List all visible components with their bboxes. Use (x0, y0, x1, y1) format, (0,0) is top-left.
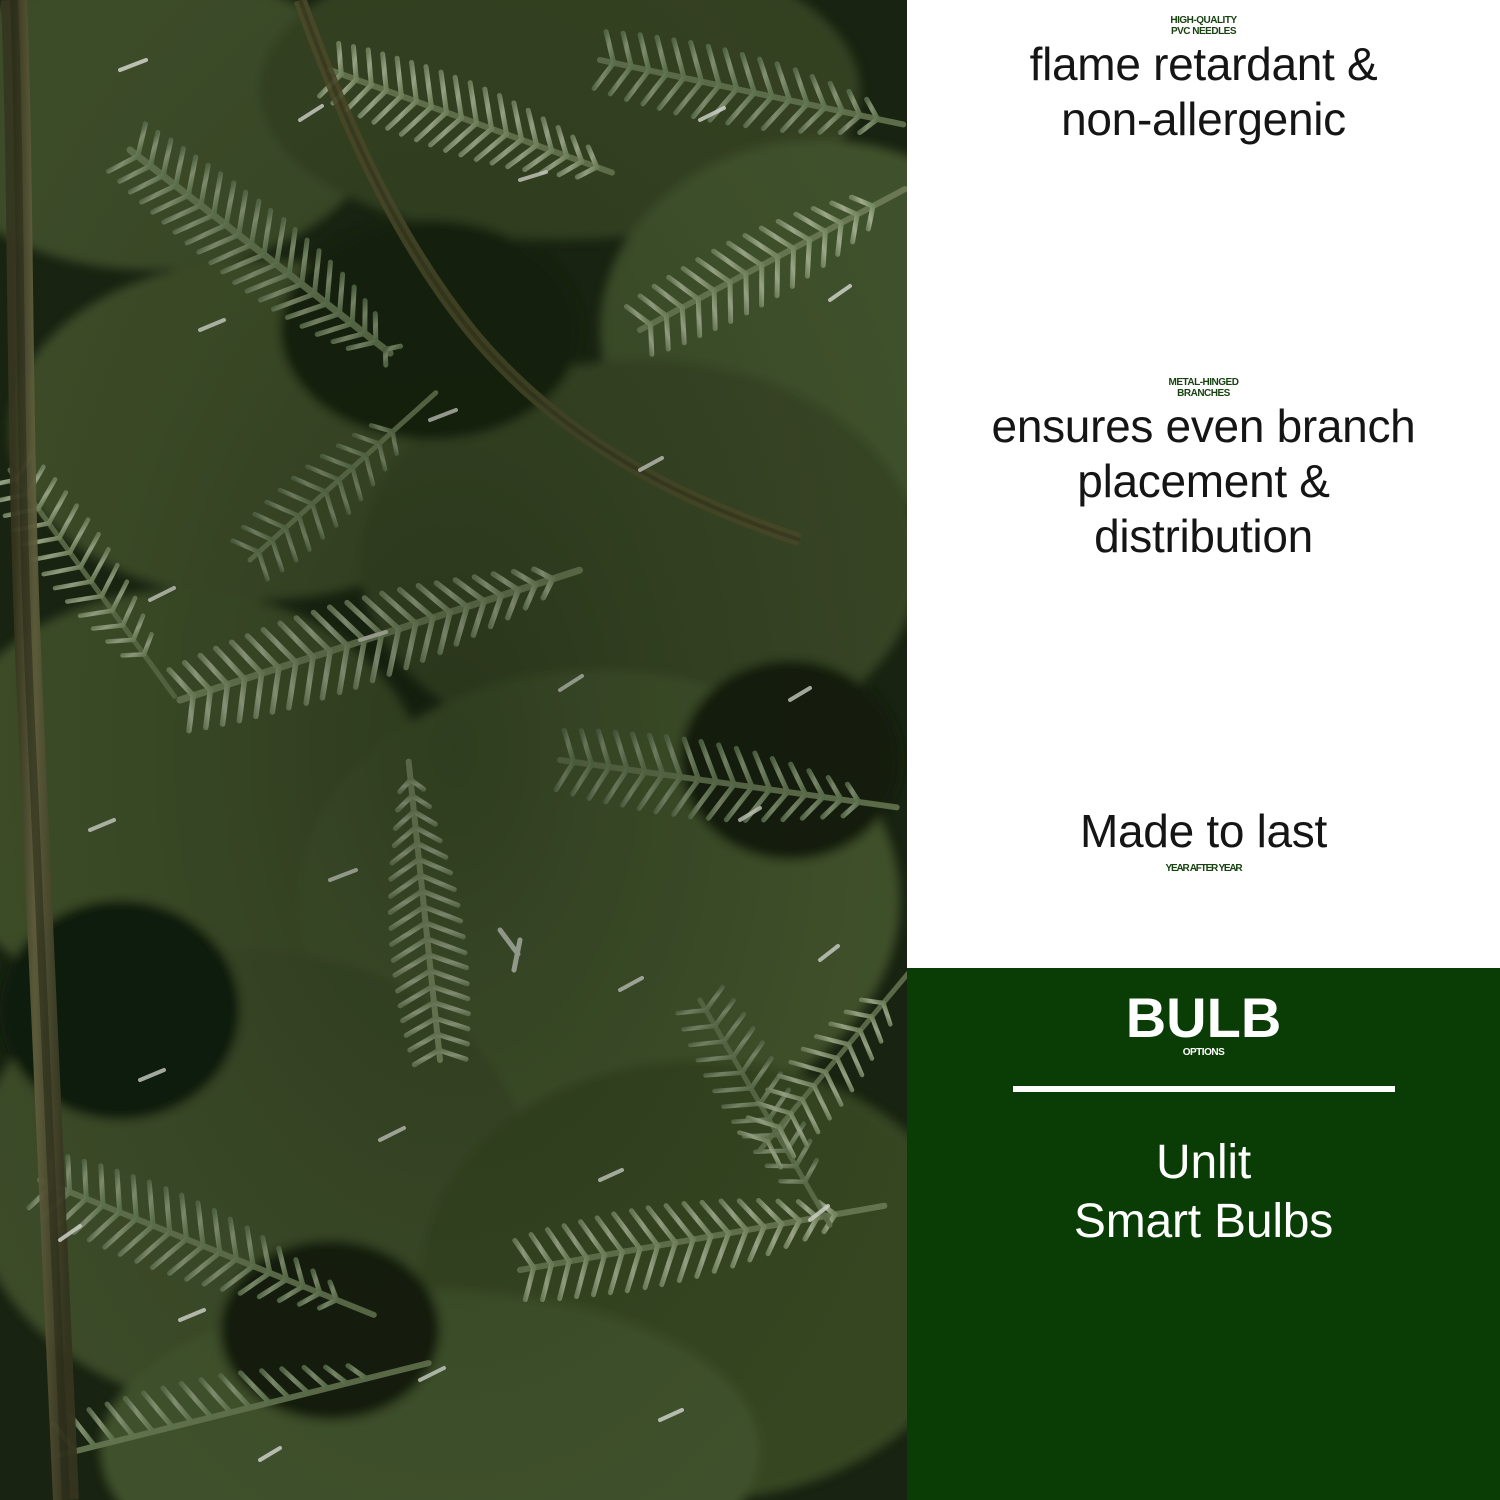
feature-sub-line-2: non-allergenic (913, 92, 1494, 147)
tree-branch-photo (0, 0, 907, 1500)
product-feature-infographic: HIGH-QUALITY PVC NEEDLES flame retardant… (0, 0, 1500, 1500)
durability-emphasis-line: YEAR AFTER YEAR (913, 863, 1494, 875)
feature-metal-hinged-branches: METAL-HINGED BRANCHES ensures even branc… (913, 378, 1494, 564)
bulb-option-smart-bulbs: Smart Bulbs (907, 1193, 1500, 1252)
feature-heading-line-2: BRANCHES (913, 389, 1494, 400)
feature-sub-line-2: placement & (913, 454, 1494, 509)
feature-text-panel: HIGH-QUALITY PVC NEEDLES flame retardant… (907, 0, 1500, 1500)
feature-pvc-needles: HIGH-QUALITY PVC NEEDLES flame retardant… (913, 16, 1494, 147)
tree-branch-photo-svg (0, 0, 907, 1500)
bulb-options-panel: BULB OPTIONS Unlit Smart Bulbs (907, 968, 1500, 1500)
bulb-options-title: BULB OPTIONS (907, 990, 1500, 1058)
feature-heading-line-2: PVC NEEDLES (913, 27, 1494, 38)
feature-sub-line-1: flame retardant & (913, 37, 1494, 92)
feature-list: HIGH-QUALITY PVC NEEDLES flame retardant… (907, 0, 1500, 968)
feature-sub-line-3: distribution (913, 509, 1494, 564)
bulb-option-unlit: Unlit (907, 1134, 1500, 1193)
feature-sub-line-1: ensures even branch (913, 399, 1494, 454)
bulb-options-values: Unlit Smart Bulbs (907, 1134, 1500, 1251)
durability-callout: Made to last YEAR AFTER YEAR (913, 806, 1494, 874)
durability-lead-line: Made to last (913, 806, 1494, 857)
bulb-options-divider (1013, 1086, 1395, 1092)
bulb-options-title-line-2: OPTIONS (907, 1048, 1500, 1058)
bulb-options-title-line-1: BULB (1126, 986, 1282, 1049)
